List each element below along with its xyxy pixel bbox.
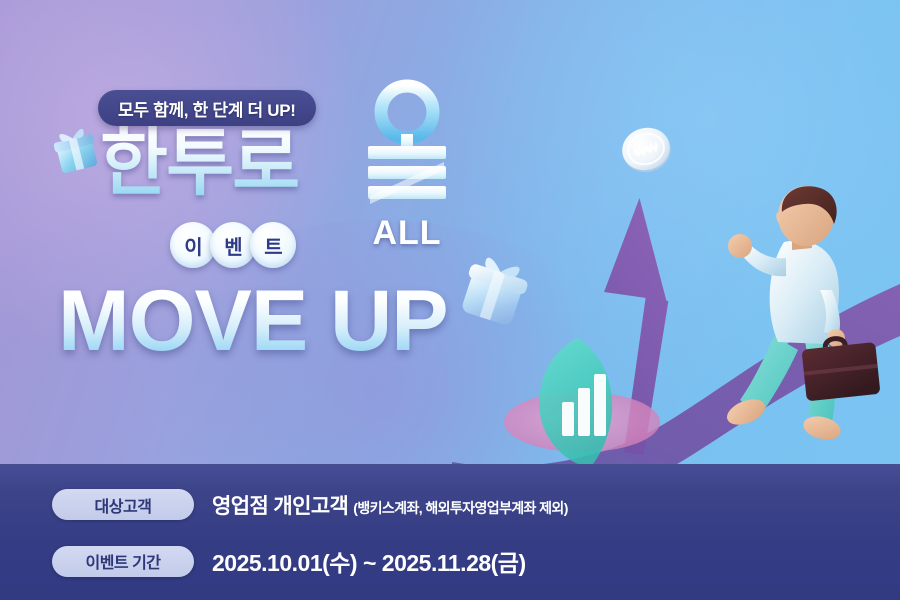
gift-box-icon-large [448,244,540,336]
growth-emblem [492,330,672,480]
nose [776,212,780,224]
info-label-pill: 이벤트 기간 [52,546,194,577]
tagline-text: 모두 함께, 한 단계 더 UP! [118,96,296,121]
ol-ring [381,86,433,138]
event-bubble-group: 이 벤 트 [170,222,290,268]
gift-box-icon-small [45,118,107,180]
won-coin-icon: ₩₩ [619,122,675,178]
event-bubble-3: 트 [250,222,296,268]
shoe-front [801,413,843,444]
businessman-illustration [700,186,890,454]
info-note-text: (뱅키스계좌, 해외투자영업부계좌 제외) [353,498,567,518]
info-label-text: 이벤트 기간 [85,549,160,573]
ol-character-graphic [352,78,462,228]
fist [728,234,752,258]
info-value-group: 2025.10.01(수) ~ 2025.11.28(금) [212,544,526,578]
info-bar: 대상고객 영업점 개인고객 (뱅키스계좌, 해외투자영업부계좌 제외) 이벤트 … [0,464,900,600]
event-bubble-char: 이 [184,231,201,260]
event-bubble-char: 벤 [224,231,241,260]
info-label-pill: 대상고객 [52,489,194,520]
info-label-text: 대상고객 [95,493,152,517]
page-title-kr: 한투로 [100,126,298,200]
info-value-group: 영업점 개인고객 (뱅키스계좌, 해외투자영업부계좌 제외) [212,490,568,520]
event-bubble-char: 트 [264,231,281,260]
info-row-event-period: 이벤트 기간 2025.10.01(수) ~ 2025.11.28(금) [52,544,526,578]
info-period-text: 2025.10.01(수) ~ 2025.11.28(금) [212,544,526,578]
tagline-pill: 모두 함께, 한 단계 더 UP! [98,90,316,126]
event-banner: ₩₩ [0,0,900,600]
info-value-text: 영업점 개인고객 [212,490,348,520]
info-row-target-customer: 대상고객 영업점 개인고객 (뱅키스계좌, 해외투자영업부계좌 제외) [52,489,568,520]
ol-subtitle-en: ALL [352,214,462,253]
headline-move-up: MOVE UP [58,278,448,364]
